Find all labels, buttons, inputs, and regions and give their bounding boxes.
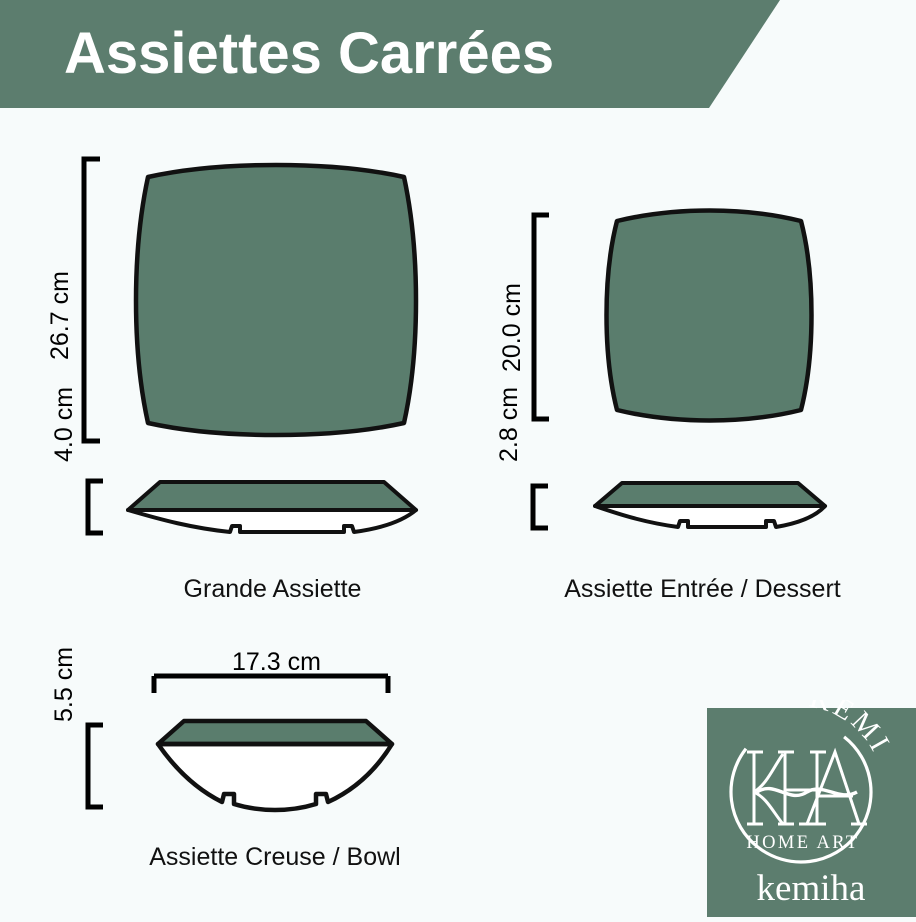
- grande-assiette-height-bracket: [78, 155, 104, 445]
- grande-assiette-height-label: 26.7 cm: [48, 271, 73, 360]
- assiette-entree-depth-label: 2.8 cm: [497, 387, 522, 462]
- assiette-entree-top-view: [595, 203, 823, 428]
- grande-assiette-side-view: [122, 470, 422, 540]
- grande-assiette-top-view: [120, 155, 430, 445]
- assiette-entree-height-label: 20.0 cm: [500, 283, 525, 372]
- grande-assiette-caption: Grande Assiette: [95, 577, 450, 602]
- infographic-root: Assiettes Carrées 26.7 cm 4.0 cm Grande …: [0, 0, 916, 917]
- bowl-width-label: 17.3 cm: [232, 650, 321, 675]
- page-title: Assiettes Carrées: [64, 25, 554, 83]
- header-banner: Assiettes Carrées: [0, 0, 780, 108]
- logo-tagline: HOME ART: [746, 833, 859, 853]
- assiette-entree-height-bracket: [528, 212, 552, 422]
- grande-assiette-depth-bracket: [82, 478, 106, 536]
- bowl-depth-label: 5.5 cm: [52, 647, 77, 722]
- logo-wordmark: kemiha: [757, 868, 866, 909]
- bowl-side-view: [150, 712, 400, 822]
- assiette-entree-caption: Assiette Entrée / Dessert: [490, 577, 915, 602]
- logo-arc-text: KEMI: [806, 700, 896, 759]
- assiette-entree-depth-bracket: [527, 483, 551, 531]
- logo-monogram-icon: [747, 752, 867, 824]
- bowl-caption: Assiette Creuse / Bowl: [80, 845, 470, 870]
- assiette-entree-side-view: [590, 473, 830, 535]
- bowl-depth-bracket: [82, 722, 106, 810]
- brand-logo: KEMI HOME ART kem: [707, 700, 916, 917]
- grande-assiette-depth-label: 4.0 cm: [52, 387, 77, 462]
